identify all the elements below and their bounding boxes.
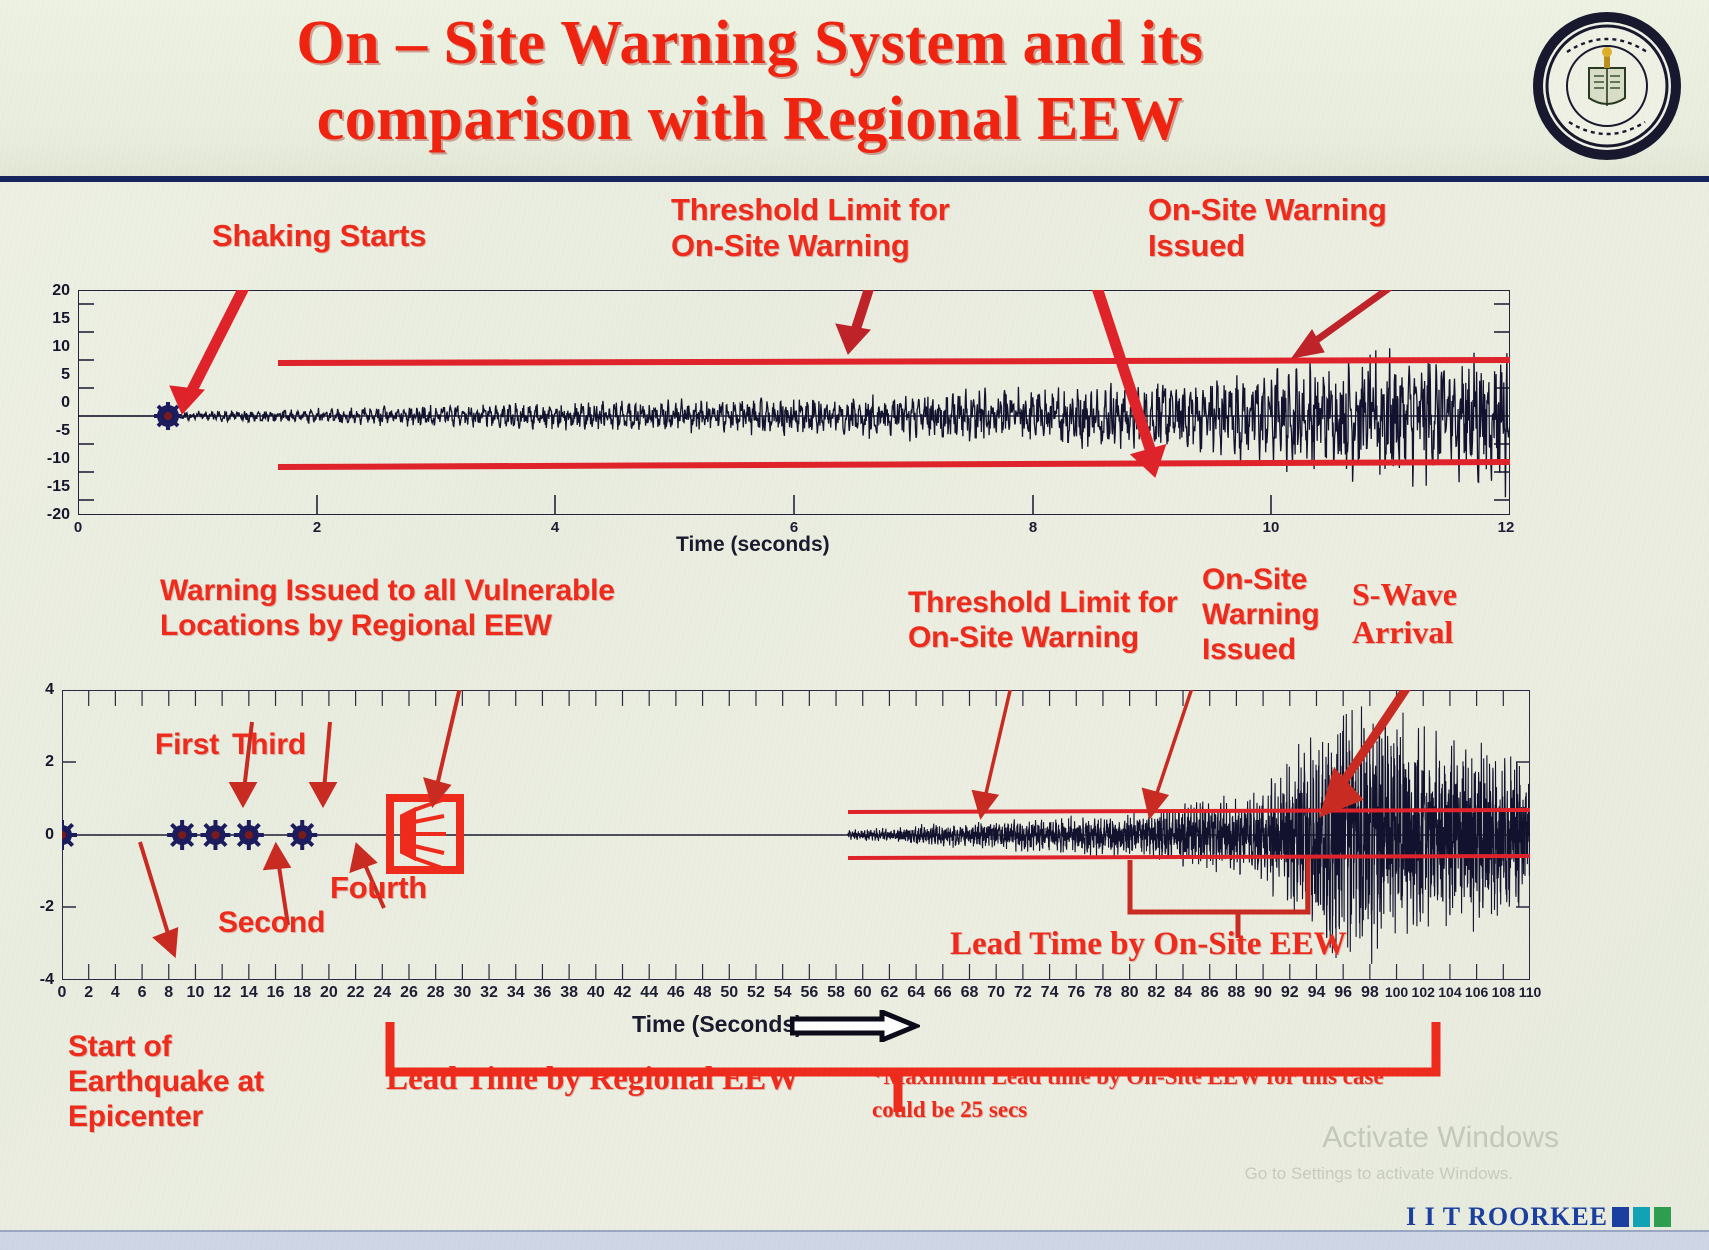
regional-eew-icon	[390, 798, 460, 870]
callout-third-station: Third	[232, 728, 306, 763]
callout-first-station: First	[155, 728, 219, 763]
bottom-x-tick-94: 94	[1308, 984, 1326, 1002]
callout-start-of-earthquake: Start of Earthquake at Epicenter	[68, 1030, 264, 1134]
bottom-x-tick-64: 64	[907, 984, 925, 1002]
bottom-x-tick-22: 22	[347, 984, 365, 1002]
iit-roorkee-brand: I I T ROORKEE	[1406, 1202, 1671, 1232]
bottom-x-tick-20: 20	[320, 984, 338, 1002]
start-line1: Start of	[68, 1030, 264, 1065]
iit-roorkee-emblem-icon	[1527, 6, 1687, 166]
swave-line2: Arrival	[1352, 613, 1457, 651]
brace-lead-time-regional	[350, 1020, 1470, 1120]
regional-warning-line2: Locations by Regional EEW	[160, 609, 615, 644]
arrow-threshold-top	[836, 290, 888, 354]
bottom-x-tick-42: 42	[614, 984, 632, 1002]
callout-threshold-line1: Threshold Limit for	[671, 192, 950, 228]
start-line2: Earthquake at	[68, 1065, 264, 1100]
brand-square-navy	[1612, 1207, 1629, 1227]
bottom-x-tick-12: 12	[213, 984, 231, 1002]
threshold-line-upper	[278, 360, 1510, 363]
bottom-x-tick-18: 18	[293, 984, 311, 1002]
bottom-x-tick-70: 70	[987, 984, 1005, 1002]
threshold-bottom-line2: On-Site Warning	[908, 621, 1178, 656]
station-marker-2	[200, 820, 230, 850]
callout-second-station: Second	[218, 906, 325, 941]
callout-lead-time-onsite: Lead Time by On-Site EEW	[950, 925, 1347, 965]
bottom-x-tick-44: 44	[640, 984, 658, 1002]
bottom-x-tick-104: 104	[1438, 984, 1461, 1000]
station-marker-0	[62, 820, 77, 850]
callout-threshold-limit-bottom: Threshold Limit for On-Site Warning	[908, 586, 1178, 656]
bottom-x-tick-76: 76	[1067, 984, 1085, 1002]
callout-onsite-warning-issued-top: On-Site Warning Issued	[1148, 192, 1387, 264]
bottom-x-tick-34: 34	[507, 984, 525, 1002]
bottom-x-tick-110: 110	[1519, 984, 1542, 1000]
slide-canvas: On – Site Warning System and its compari…	[0, 0, 1709, 1250]
bottom-x-tick-96: 96	[1334, 984, 1352, 1002]
threshold-line-upper-bottom	[848, 810, 1530, 812]
title-line-1: On – Site Warning System and its	[120, 6, 1380, 82]
onsite-bottom-line2: Warning	[1202, 598, 1319, 633]
arrow-onsite-warning-issued	[1292, 290, 1498, 358]
bottom-x-tick-62: 62	[881, 984, 899, 1002]
title-line-2: comparison with Regional EEW	[120, 82, 1380, 158]
seismic-trace	[78, 348, 1510, 497]
bottom-x-tick-106: 106	[1465, 984, 1488, 1000]
bottom-x-tick-100: 100	[1385, 984, 1408, 1000]
bottom-x-tick-60: 60	[854, 984, 872, 1002]
start-line3: Epicenter	[68, 1100, 264, 1135]
brand-square-cyan	[1633, 1207, 1650, 1227]
slide-footer-bar	[0, 1230, 1709, 1250]
bottom-x-tick-14: 14	[240, 984, 258, 1002]
bottom-x-tick-16: 16	[267, 984, 285, 1002]
bottom-x-tick-2: 2	[84, 984, 93, 1002]
swave-line1: S-Wave	[1352, 575, 1457, 613]
bottom-x-tick-40: 40	[587, 984, 605, 1002]
callout-regional-warning-issued: Warning Issued to all Vulnerable Locatio…	[160, 574, 615, 644]
bottom-x-tick-78: 78	[1094, 984, 1112, 1002]
bottom-x-tick-84: 84	[1174, 984, 1192, 1002]
bottom-x-tick-0: 0	[58, 984, 67, 1002]
onsite-bottom-line3: Issued	[1202, 633, 1319, 668]
activate-windows-subtext: Go to Settings to activate Windows.	[1245, 1164, 1513, 1184]
bottom-x-tick-38: 38	[560, 984, 578, 1002]
station-marker-1	[167, 820, 197, 850]
activate-windows-watermark: Activate Windows	[1322, 1121, 1559, 1155]
bottom-x-tick-6: 6	[138, 984, 147, 1002]
bottom-x-tick-30: 30	[453, 984, 471, 1002]
bottom-x-tick-102: 102	[1412, 984, 1435, 1000]
bottom-x-tick-32: 32	[480, 984, 498, 1002]
brand-text: I I T ROORKEE	[1406, 1202, 1608, 1231]
brand-square-green	[1654, 1207, 1671, 1227]
callout-threshold-line2: On-Site Warning	[671, 228, 950, 264]
callout-threshold-limit-top: Threshold Limit for On-Site Warning	[671, 192, 950, 264]
bottom-x-tick-8: 8	[164, 984, 173, 1002]
arrow-third	[312, 722, 334, 804]
regional-warning-line1: Warning Issued to all Vulnerable	[160, 574, 615, 609]
bottom-x-tick-54: 54	[774, 984, 792, 1002]
bottom-x-tick-10: 10	[187, 984, 205, 1002]
bottom-x-tick-48: 48	[694, 984, 712, 1002]
callout-warning-line2: Issued	[1148, 228, 1387, 264]
bottom-x-tick-88: 88	[1227, 984, 1245, 1002]
top-chart-x-axis-label: Time (seconds)	[676, 533, 830, 557]
bottom-x-tick-66: 66	[934, 984, 952, 1002]
callout-warning-line1: On-Site Warning	[1148, 192, 1387, 228]
arrow-shaking-starts	[170, 290, 263, 414]
arrow-onsite-warning-bottom	[1144, 690, 1212, 816]
bottom-x-tick-24: 24	[373, 984, 391, 1002]
threshold-line-lower	[278, 462, 1510, 467]
top-chart-svg	[78, 290, 1510, 515]
bottom-x-tick-86: 86	[1201, 984, 1219, 1002]
station-marker-3	[234, 820, 264, 850]
callout-onsite-warning-issued-bottom: On-Site Warning Issued	[1202, 563, 1319, 667]
bottom-x-tick-72: 72	[1014, 984, 1032, 1002]
arrow-regional-warning	[426, 690, 492, 804]
bottom-x-tick-56: 56	[800, 984, 818, 1002]
page-title: On – Site Warning System and its compari…	[120, 6, 1380, 157]
threshold-line-lower-bottom	[848, 856, 1530, 858]
bottom-x-tick-46: 46	[667, 984, 685, 1002]
arrow-threshold-bottom-chart	[974, 690, 1027, 816]
threshold-bottom-line1: Threshold Limit for	[908, 586, 1178, 621]
bottom-x-tick-50: 50	[720, 984, 738, 1002]
bottom-x-tick-98: 98	[1361, 984, 1379, 1002]
arrow-threshold-bottom	[1078, 290, 1166, 477]
bottom-x-tick-108: 108	[1492, 984, 1515, 1000]
callout-s-wave-arrival: S-Wave Arrival	[1352, 575, 1457, 652]
bottom-x-tick-90: 90	[1254, 984, 1272, 1002]
bottom-x-tick-82: 82	[1147, 984, 1165, 1002]
bottom-x-tick-68: 68	[961, 984, 979, 1002]
shaking-start-marker	[154, 402, 182, 430]
callout-fourth-station: Fourth	[330, 870, 427, 906]
bottom-x-tick-80: 80	[1121, 984, 1139, 1002]
bottom-x-tick-52: 52	[747, 984, 765, 1002]
bottom-x-tick-26: 26	[400, 984, 418, 1002]
arrow-start-epicenter	[140, 842, 176, 954]
bottom-x-tick-36: 36	[534, 984, 552, 1002]
bottom-x-tick-92: 92	[1281, 984, 1299, 1002]
onsite-bottom-line1: On-Site	[1202, 563, 1319, 598]
station-marker-4	[287, 820, 317, 850]
bottom-x-tick-28: 28	[427, 984, 445, 1002]
bottom-x-tick-4: 4	[111, 984, 120, 1002]
bottom-x-tick-58: 58	[827, 984, 845, 1002]
bottom-x-tick-74: 74	[1041, 984, 1059, 1002]
top-seismogram-chart	[78, 290, 1510, 515]
callout-shaking-starts: Shaking Starts	[212, 218, 426, 254]
slide-header: On – Site Warning System and its compari…	[0, 0, 1709, 182]
